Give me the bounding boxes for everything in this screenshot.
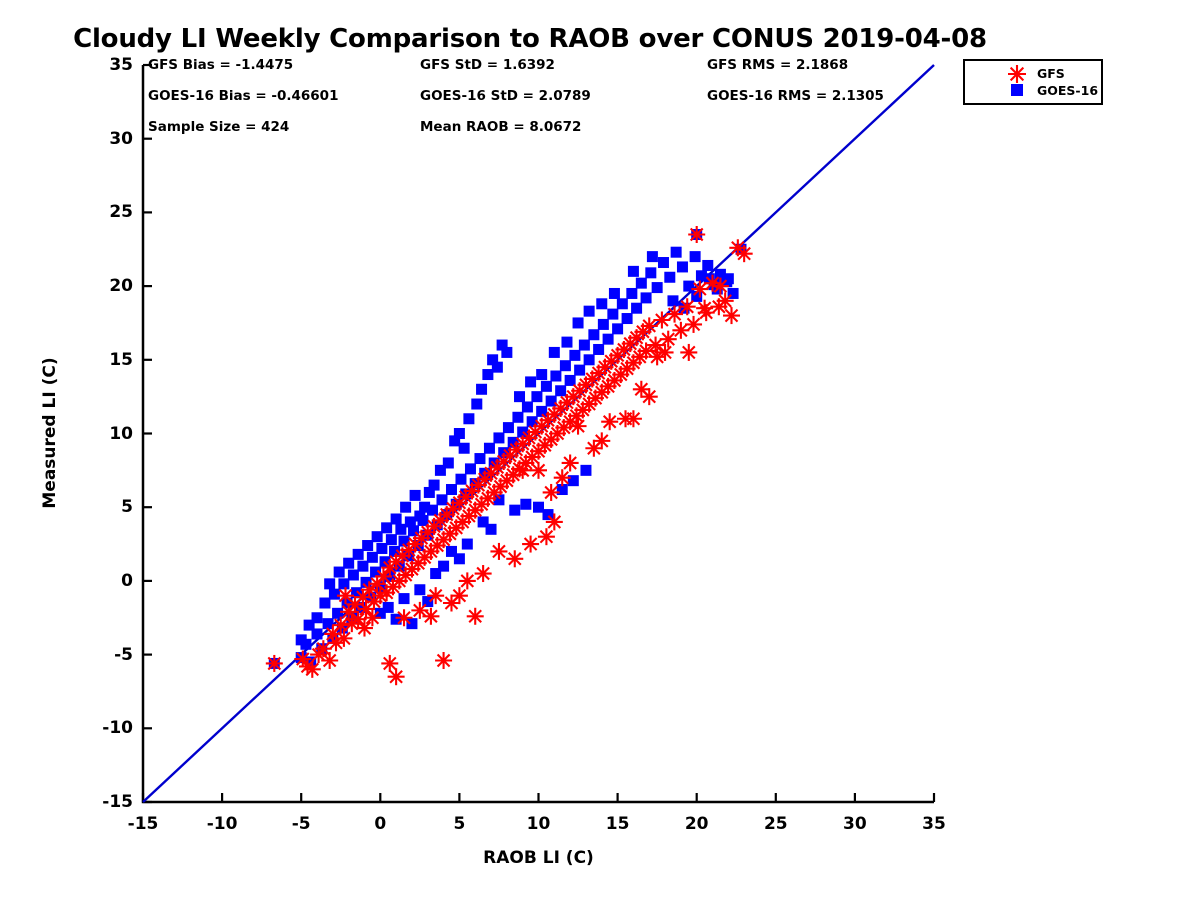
one-to-one-reference-line <box>143 65 934 802</box>
y-tick-label-8: 25 <box>65 202 133 222</box>
y-tick-label-6: 15 <box>65 350 133 370</box>
legend-label-gfs: GFS <box>1037 66 1065 81</box>
x-tick-label-8: 25 <box>764 814 788 834</box>
x-tick-label-3: 0 <box>374 814 386 834</box>
x-tick-label-10: 35 <box>922 814 946 834</box>
x-tick-label-9: 30 <box>843 814 867 834</box>
chart-figure: Cloudy LI Weekly Comparison to RAOB over… <box>0 0 1200 900</box>
x-tick-label-6: 15 <box>606 814 630 834</box>
x-tick-label-1: -10 <box>207 814 238 834</box>
x-tick-label-5: 10 <box>527 814 551 834</box>
y-tick-label-7: 20 <box>65 276 133 296</box>
y-tick-label-5: 10 <box>65 424 133 444</box>
plot-area <box>0 0 1200 900</box>
x-axis-title: RAOB LI (C) <box>143 848 934 868</box>
series-goes16-markers <box>269 229 747 669</box>
x-tick-label-4: 5 <box>453 814 465 834</box>
x-tick-label-7: 20 <box>685 814 709 834</box>
x-tick-label-0: -15 <box>128 814 159 834</box>
y-tick-label-0: -15 <box>65 792 133 812</box>
y-tick-label-10: 35 <box>65 55 133 75</box>
y-tick-label-9: 30 <box>65 129 133 149</box>
legend-label-goes16: GOES-16 <box>1037 83 1098 98</box>
y-tick-label-3: 0 <box>65 571 133 591</box>
y-tick-label-2: -5 <box>65 645 133 665</box>
y-axis-title: Measured LI (C) <box>40 283 60 583</box>
x-tick-label-2: -5 <box>292 814 311 834</box>
y-tick-label-4: 5 <box>65 497 133 517</box>
legend: GFS GOES-16 <box>963 59 1103 105</box>
y-tick-label-1: -10 <box>65 718 133 738</box>
